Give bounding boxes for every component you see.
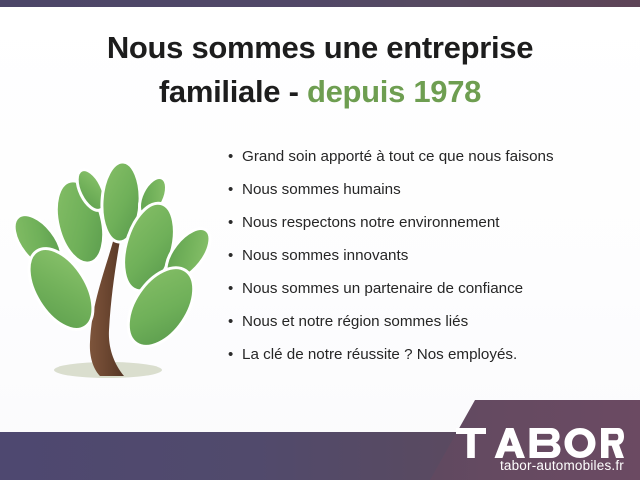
slide-root: Nous sommes une entreprise familiale - d… xyxy=(0,0,640,480)
headline-line-1-text: Nous sommes une entreprise xyxy=(107,30,533,65)
brand-tagline: tabor-automobiles.fr xyxy=(414,459,624,473)
headline-line-1: Nous sommes une entreprise xyxy=(0,26,640,70)
tree-illustration xyxy=(8,142,220,390)
bullet-icon: • xyxy=(228,179,242,201)
headline-prefix: familiale xyxy=(159,74,280,109)
list-item-label: Nous et notre région sommes liés xyxy=(242,311,468,333)
list-item-label: Nous respectons notre environnement xyxy=(242,212,500,234)
page-title: Nous sommes une entreprise familiale - d… xyxy=(0,26,640,114)
list-item: • Nous sommes humains xyxy=(228,179,638,212)
brand-logo[interactable]: tabor-automobiles.fr xyxy=(414,428,624,473)
list-item-label: Nous sommes humains xyxy=(242,179,401,201)
list-item-label: Nous sommes innovants xyxy=(242,245,408,267)
top-accent-bar xyxy=(0,0,640,7)
bullet-icon: • xyxy=(228,146,242,168)
list-item: • Grand soin apporté à tout ce que nous … xyxy=(228,146,638,179)
list-item: • Nous respectons notre environnement xyxy=(228,212,638,245)
headline-line-2: familiale - depuis 1978 xyxy=(0,70,640,114)
list-item: • La clé de notre réussite ? Nos employé… xyxy=(228,344,638,377)
bullet-icon: • xyxy=(228,344,242,366)
list-item-label: Grand soin apporté à tout ce que nous fa… xyxy=(242,146,554,168)
bullet-icon: • xyxy=(228,212,242,234)
list-item-label: La clé de notre réussite ? Nos employés. xyxy=(242,344,517,366)
list-item: • Nous sommes innovants xyxy=(228,245,638,278)
bullet-icon: • xyxy=(228,311,242,333)
list-item: • Nous sommes un partenaire de confiance xyxy=(228,278,638,311)
headline-separator: - xyxy=(289,74,299,109)
list-item: • Nous et notre région sommes liés xyxy=(228,311,638,344)
headline-accent: depuis 1978 xyxy=(307,74,481,109)
bullet-icon: • xyxy=(228,278,242,300)
value-list: • Grand soin apporté à tout ce que nous … xyxy=(228,146,638,377)
bullet-icon: • xyxy=(228,245,242,267)
tabor-wordmark xyxy=(456,428,624,458)
list-item-label: Nous sommes un partenaire de confiance xyxy=(242,278,523,300)
